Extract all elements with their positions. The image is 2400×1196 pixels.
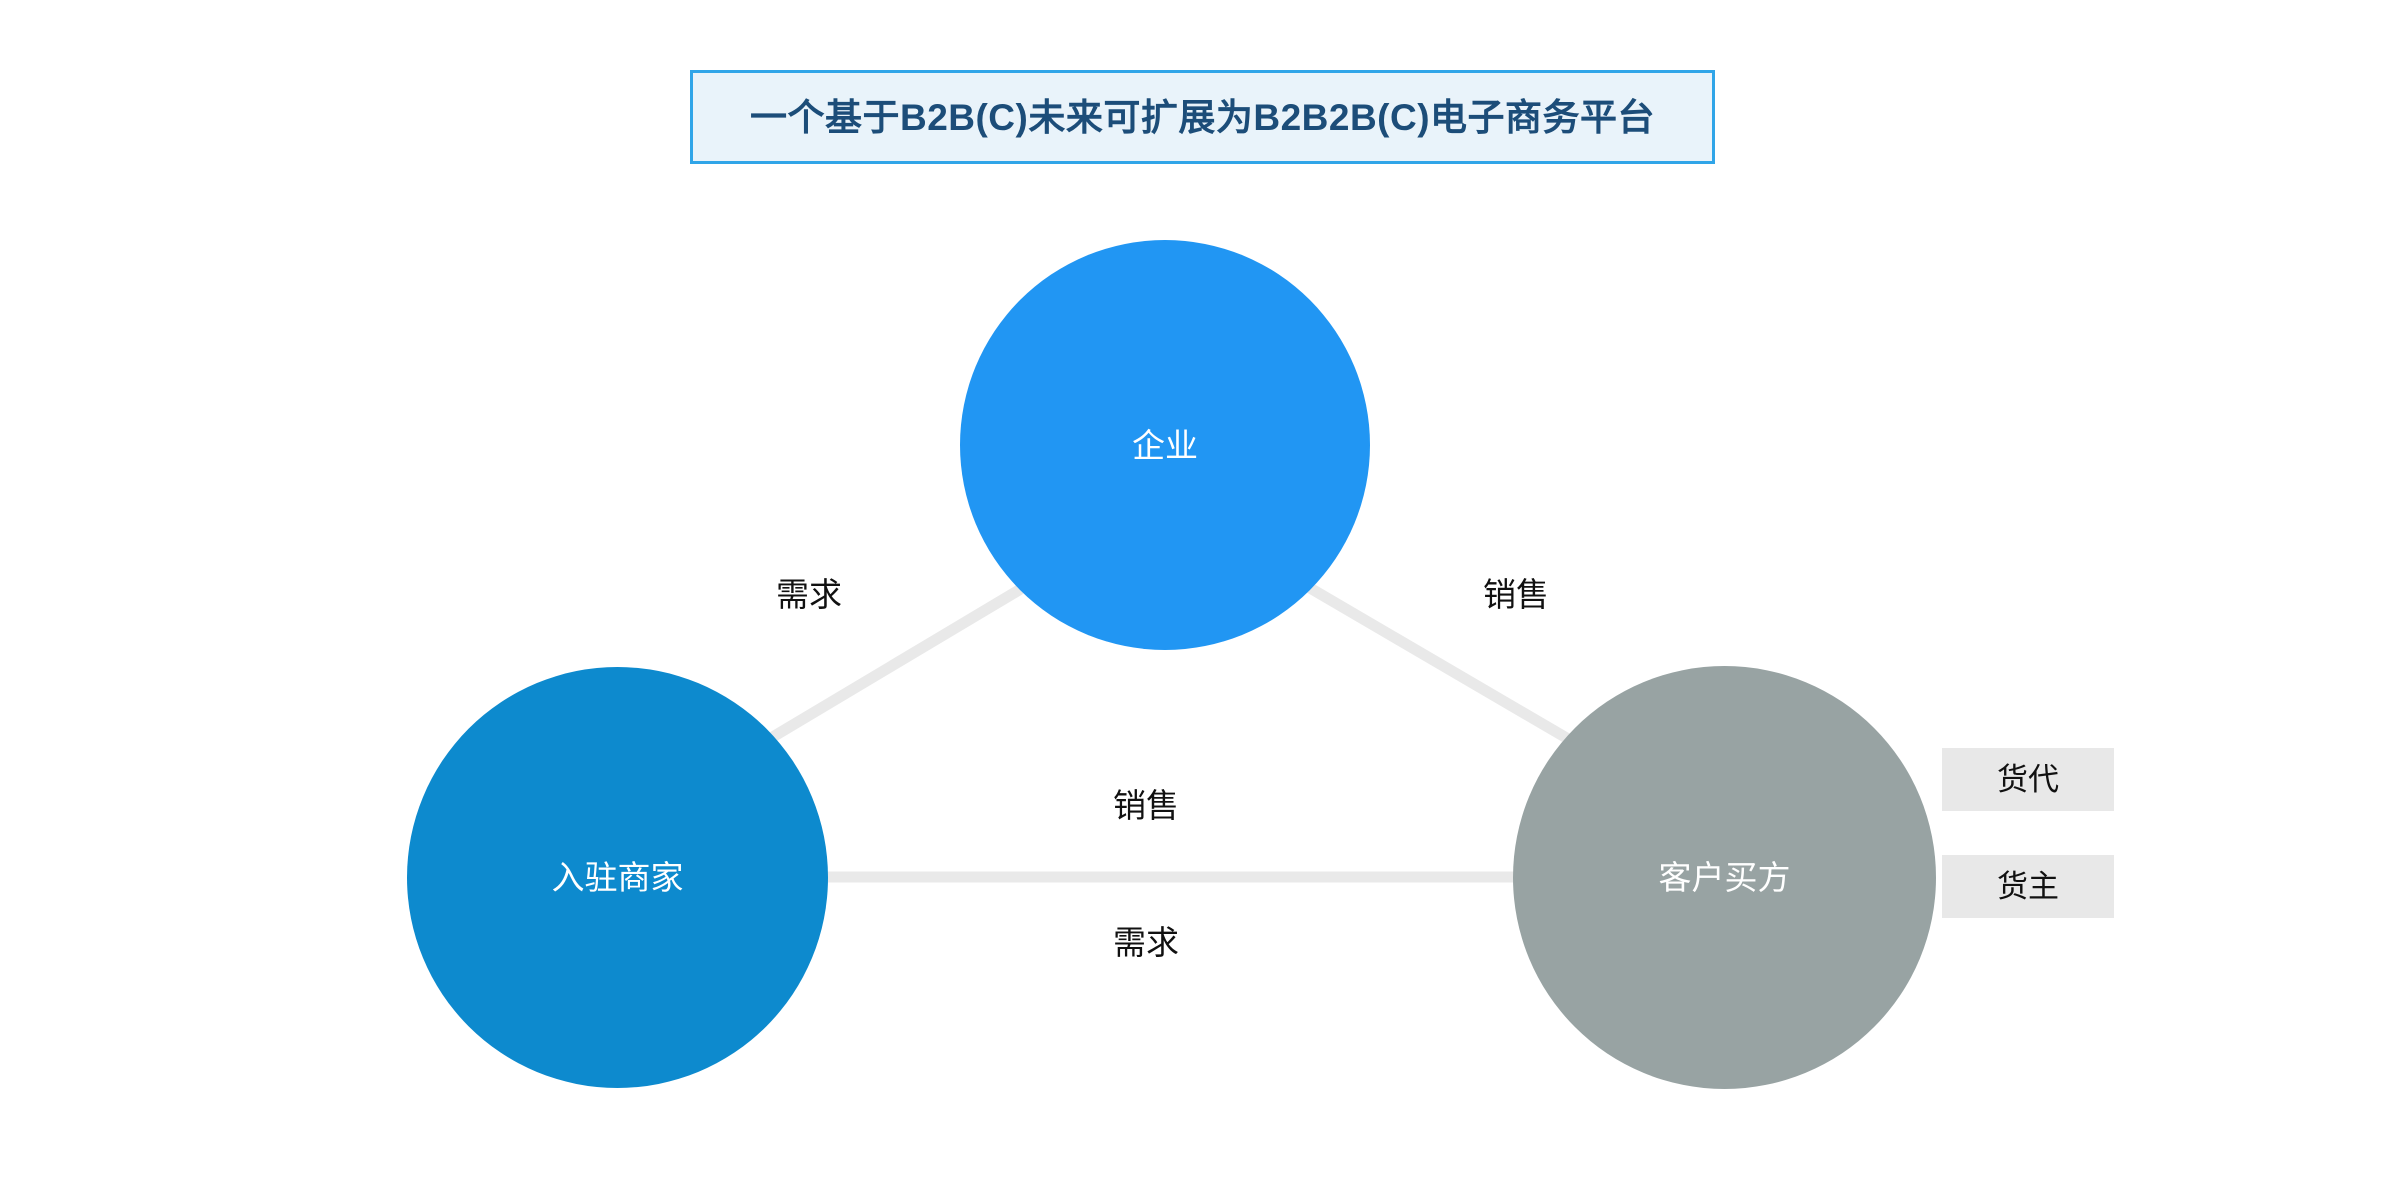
edge-label-buyer-to-merchant-demand: 需求 [1113, 926, 1179, 959]
node-buyer[interactable]: 客户买方 [1513, 666, 1936, 1089]
edge-label-enterprise-to-buyer: 销售 [1483, 578, 1549, 611]
node-enterprise-label: 企业 [1132, 429, 1198, 462]
node-buyer-label: 客户买方 [1659, 861, 1791, 894]
side-tag-label: 货主 [1997, 871, 2059, 902]
node-enterprise[interactable]: 企业 [960, 240, 1370, 650]
diagram-canvas: 一个基于B2B(C)未来可扩展为B2B2B(C)电子商务平台 企业 入驻商家 客… [0, 0, 2400, 1196]
node-merchant[interactable]: 入驻商家 [407, 667, 828, 1088]
side-tag-label: 货代 [1997, 764, 2059, 795]
edge-label-merchant-to-buyer-sales: 销售 [1113, 789, 1179, 822]
side-tag-freight-forwarder[interactable]: 货代 [1942, 748, 2114, 811]
page-title: 一个基于B2B(C)未来可扩展为B2B2B(C)电子商务平台 [750, 99, 1655, 136]
edge-label-merchant-to-enterprise: 需求 [776, 578, 842, 611]
node-merchant-label: 入驻商家 [552, 861, 684, 894]
side-tag-cargo-owner[interactable]: 货主 [1942, 855, 2114, 918]
title-banner: 一个基于B2B(C)未来可扩展为B2B2B(C)电子商务平台 [690, 70, 1715, 164]
